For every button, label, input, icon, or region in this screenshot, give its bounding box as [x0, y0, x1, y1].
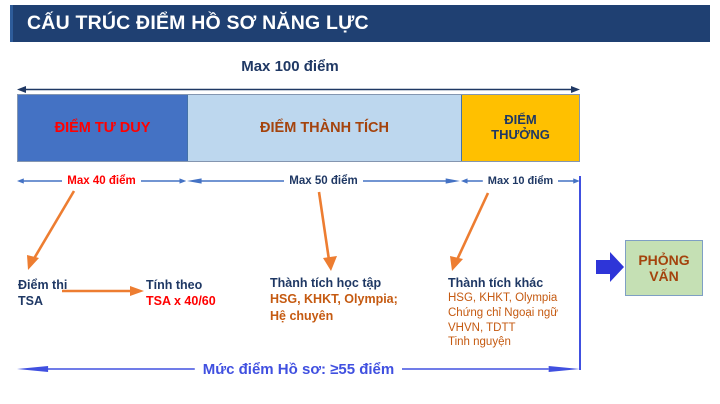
dimension-line-right-40: [141, 176, 186, 186]
total-dimension-arrow: [17, 85, 580, 94]
dimension-line-right-50: [363, 176, 460, 186]
bar-segment-thuong-label: ĐIỂMTHƯỞNG: [491, 113, 550, 142]
detail-block-tinh-theo: Tính theo TSA x 40/60: [146, 277, 216, 310]
page-title: CẤU TRÚC ĐIỂM HỒ SƠ NĂNG LỰC: [13, 12, 369, 35]
dimension-line-left-10: [461, 176, 483, 186]
detail-block-khac: Thành tích khác HSG, KHKT, Olympia Chứng…: [448, 275, 558, 350]
bar-segment-tu-duy[interactable]: ĐIỂM TƯ DUY: [18, 95, 187, 161]
bar-segment-thuong[interactable]: ĐIỂMTHƯỞNG: [461, 95, 579, 161]
dimension-line-left-50: [187, 176, 284, 186]
detail-tsa-line1: Điểm thi: [18, 277, 67, 293]
connector-arrow-thanh-tich-icon: [310, 190, 342, 272]
connector-arrow-tu-duy-icon: [20, 188, 80, 272]
dimension-line-left-total: [17, 364, 195, 374]
detail-tsa-line2: TSA: [18, 293, 67, 309]
dimension-line-right-10: [558, 176, 580, 186]
detail-khac-line2: HSG, KHKT, Olympia: [448, 291, 558, 306]
dimension-max-50: Max 50 điểm: [187, 170, 460, 192]
bar-segment-tu-duy-label: ĐIỂM TƯ DUY: [55, 120, 151, 136]
connector-arrow-tsa-formula-icon: [62, 283, 144, 299]
dimension-max-50-label: Max 50 điểm: [284, 175, 362, 187]
bar-segment-thanh-tich-label: ĐIỂM THÀNH TÍCH: [260, 120, 389, 136]
detail-tinh-theo-formula: TSA x 40/60: [146, 293, 216, 309]
detail-khac-line5: Tinh nguyện: [448, 335, 558, 350]
detail-block-hoc-tap: Thành tích học tập HSG, KHKT, Olympia; H…: [270, 275, 398, 324]
right-guide-line: [579, 176, 581, 370]
outcome-box-phong-van[interactable]: PHỎNGVẤN: [625, 240, 703, 296]
score-structure-bar: ĐIỂM TƯ DUY ĐIỂM THÀNH TÍCH ĐIỂMTHƯỞNG: [17, 94, 580, 162]
dimension-line-right-total: [402, 364, 580, 374]
dimension-profile-threshold: Mức điểm Hồ sơ: ≥55 điểm: [17, 358, 580, 380]
connector-arrow-thuong-icon: [442, 190, 494, 274]
detail-hoc-tap-line3: Hệ chuyên: [270, 308, 398, 324]
slide-title-bar: CẤU TRÚC ĐIỂM HỒ SƠ NĂNG LỰC: [10, 5, 710, 42]
slide-canvas: CẤU TRÚC ĐIỂM HỒ SƠ NĂNG LỰC Max 100 điể…: [0, 0, 720, 404]
dimension-max-40-label: Max 40 điểm: [62, 175, 140, 187]
outcome-box-label: PHỎNGVẤN: [638, 252, 689, 284]
detail-hoc-tap-line2: HSG, KHKT, Olympia;: [270, 291, 398, 307]
dimension-line-left-40: [17, 176, 62, 186]
bar-segment-thanh-tich[interactable]: ĐIỂM THÀNH TÍCH: [187, 95, 461, 161]
total-dimension-label: Max 100 điểm: [0, 58, 580, 75]
detail-khac-line3: Chứng chỉ Ngoại ngữ: [448, 306, 558, 321]
dimension-max-10: Max 10 điểm: [461, 170, 580, 192]
right-arrow-icon: [596, 252, 624, 282]
detail-block-tsa: Điểm thi TSA: [18, 277, 67, 310]
detail-khac-heading: Thành tích khác: [448, 275, 558, 291]
dimension-profile-threshold-label: Mức điểm Hồ sơ: ≥55 điểm: [195, 361, 402, 378]
detail-khac-line4: VHVN, TDTT: [448, 321, 558, 336]
dimension-max-10-label: Max 10 điểm: [483, 175, 558, 187]
detail-hoc-tap-heading: Thành tích học tập: [270, 275, 398, 291]
detail-tinh-theo-line1: Tính theo: [146, 277, 216, 293]
